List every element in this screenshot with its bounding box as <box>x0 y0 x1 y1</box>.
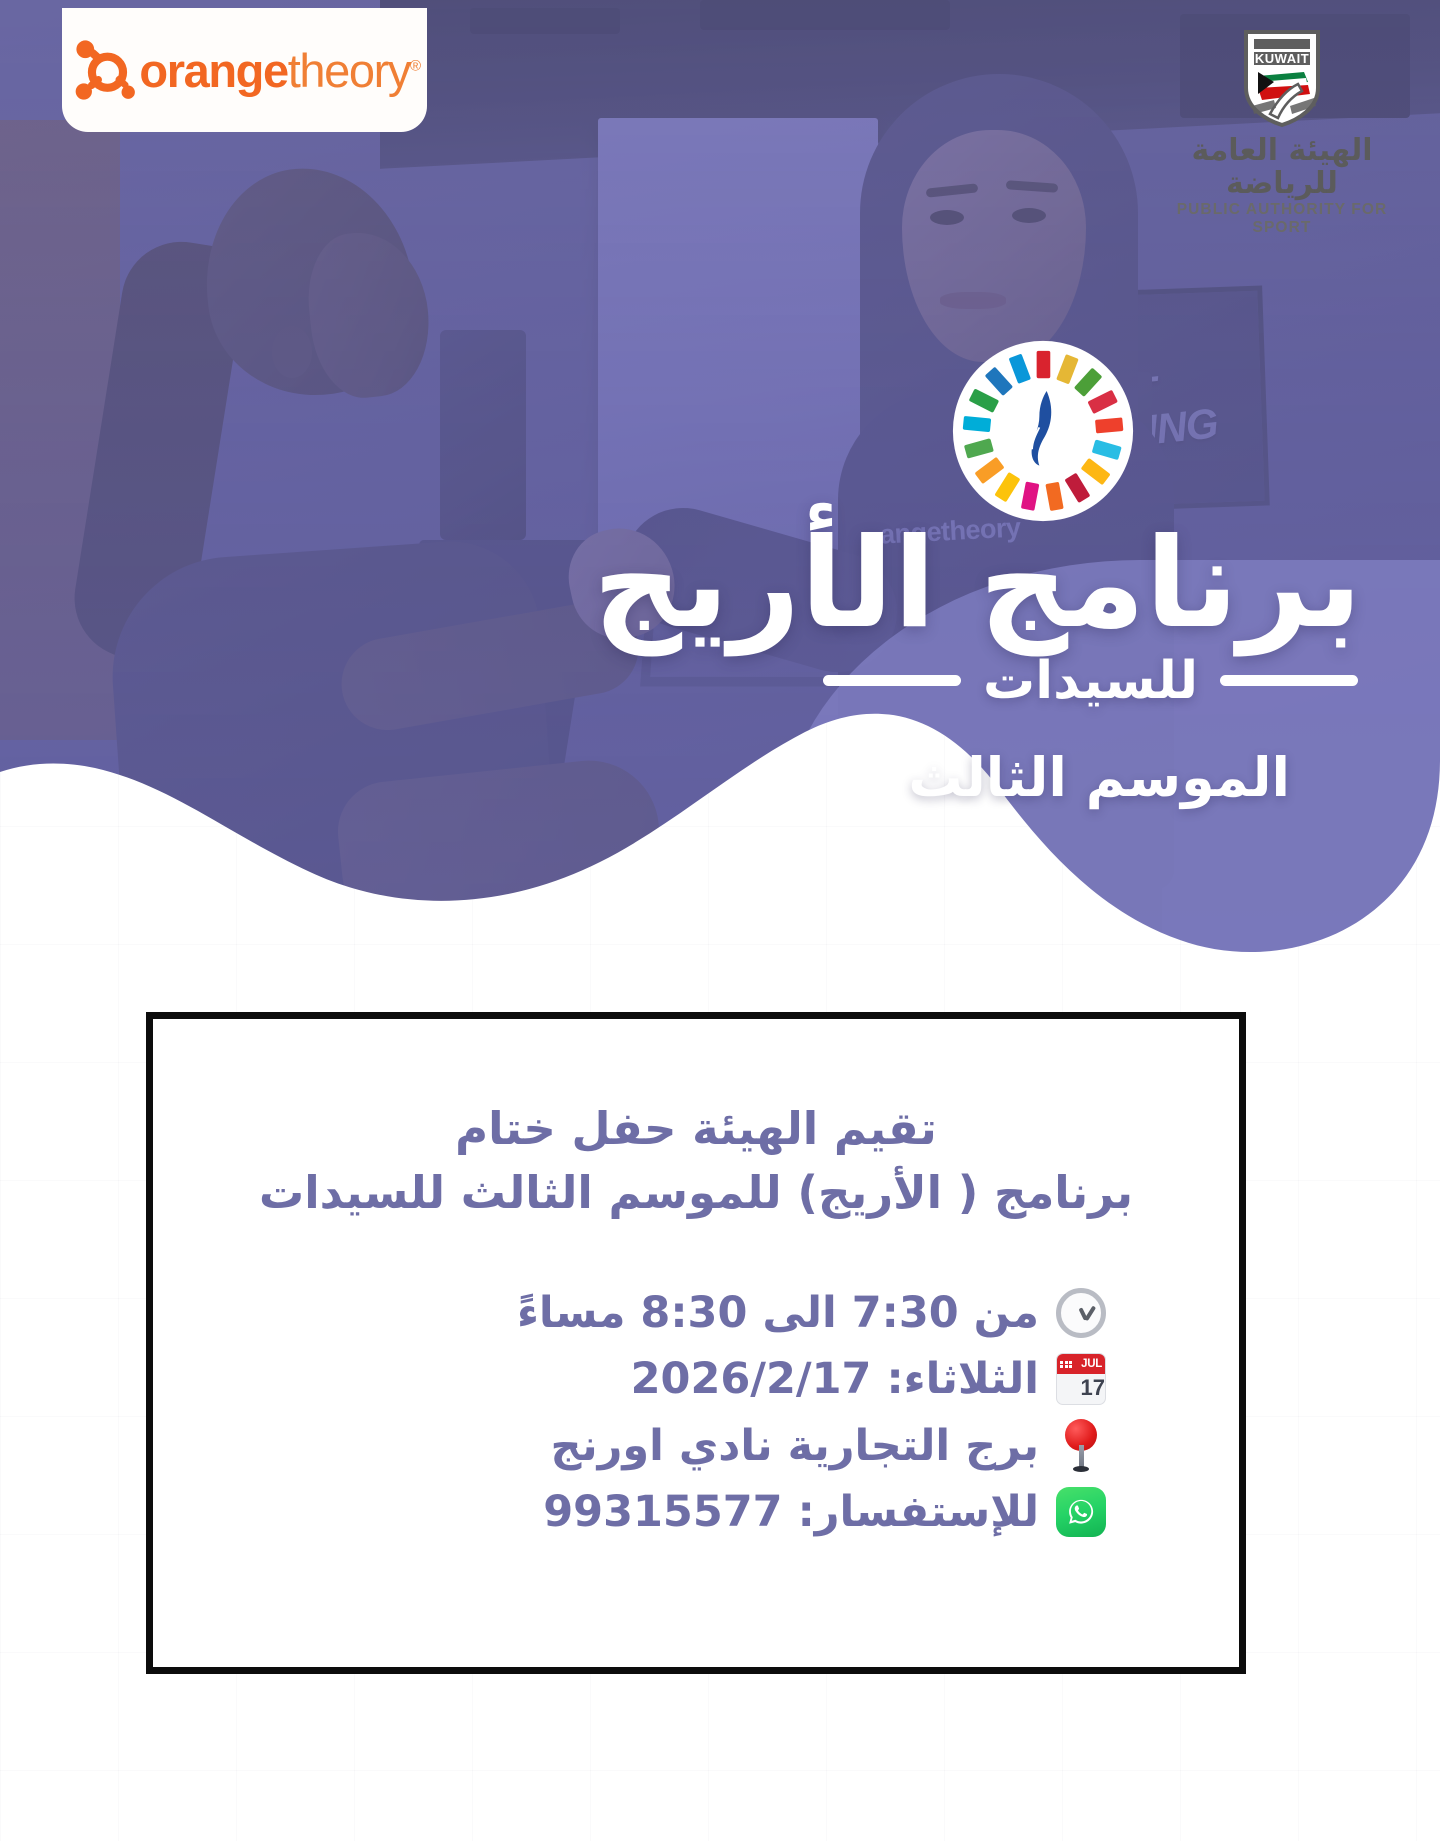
program-title: برنامج الأريج <box>593 520 1362 649</box>
registered-mark: ® <box>410 57 420 74</box>
svg-text:KUWAIT: KUWAIT <box>1255 51 1309 66</box>
detail-row-date: JUL 17 الثلاثاء: 2026/2/17 <box>199 1353 1193 1405</box>
divider-dash-right <box>823 675 961 686</box>
detail-row-location: برج التجارية نادي اورنج <box>199 1420 1193 1472</box>
authority-name-english: PUBLIC AUTHORITY FOR SPORT <box>1172 201 1392 237</box>
event-poster: ge TU LET'S START BURNING <box>0 0 1440 1841</box>
public-authority-for-sport-logo: KUWAIT الهيئة العامة للرياضة PUBLIC AUTH… <box>1172 28 1392 237</box>
wordmark-light: theory <box>288 44 410 97</box>
sdg-woman-wheel-logo <box>952 340 1134 522</box>
kuwait-shield-icon: KUWAIT <box>1240 28 1324 128</box>
calendar-icon: JUL 17 <box>1055 1353 1107 1405</box>
event-description-line-2: برنامج ( الأريج) للموسم الثالث للسيدات <box>199 1161 1193 1225</box>
authority-name-arabic: الهيئة العامة للرياضة <box>1172 134 1392 200</box>
headline-block: برنامج الأريج للسيدات الموسم الثالث <box>593 520 1362 805</box>
program-subtitle: للسيدات <box>983 655 1198 707</box>
location-pin-icon <box>1055 1420 1107 1472</box>
event-detail-list: من 7:30 الى 8:30 مساءً JUL 17 الثلاثاء: … <box>199 1287 1193 1539</box>
orangetheory-wordmark: orangetheory® <box>139 47 419 94</box>
contact-number: للإستفسار: 99315577 <box>543 1486 1039 1538</box>
calendar-day: 17 <box>1081 1375 1105 1400</box>
event-description-line-1: تقيم الهيئة حفل ختام <box>199 1097 1193 1161</box>
season-label: الموسم الثالث <box>593 751 1290 805</box>
orangetheory-mark-icon <box>69 33 143 107</box>
orangetheory-logo: orangetheory® <box>69 33 419 107</box>
wordmark-bold: orange <box>139 44 287 97</box>
calendar-month: JUL <box>1081 1358 1102 1370</box>
detail-row-contact[interactable]: للإستفسار: 99315577 <box>199 1486 1193 1538</box>
subtitle-row: للسيدات <box>593 655 1358 707</box>
whatsapp-icon[interactable] <box>1055 1486 1107 1538</box>
event-location: برج التجارية نادي اورنج <box>551 1420 1039 1472</box>
clock-icon <box>1055 1287 1107 1339</box>
event-time: من 7:30 الى 8:30 مساءً <box>517 1287 1039 1339</box>
orangetheory-logo-card: orangetheory® <box>62 8 427 132</box>
event-details-box: تقيم الهيئة حفل ختام برنامج ( الأريج) لل… <box>146 1012 1246 1674</box>
divider-dash-left <box>1220 675 1358 686</box>
detail-row-time: من 7:30 الى 8:30 مساءً <box>199 1287 1193 1339</box>
event-date: الثلاثاء: 2026/2/17 <box>631 1353 1039 1405</box>
